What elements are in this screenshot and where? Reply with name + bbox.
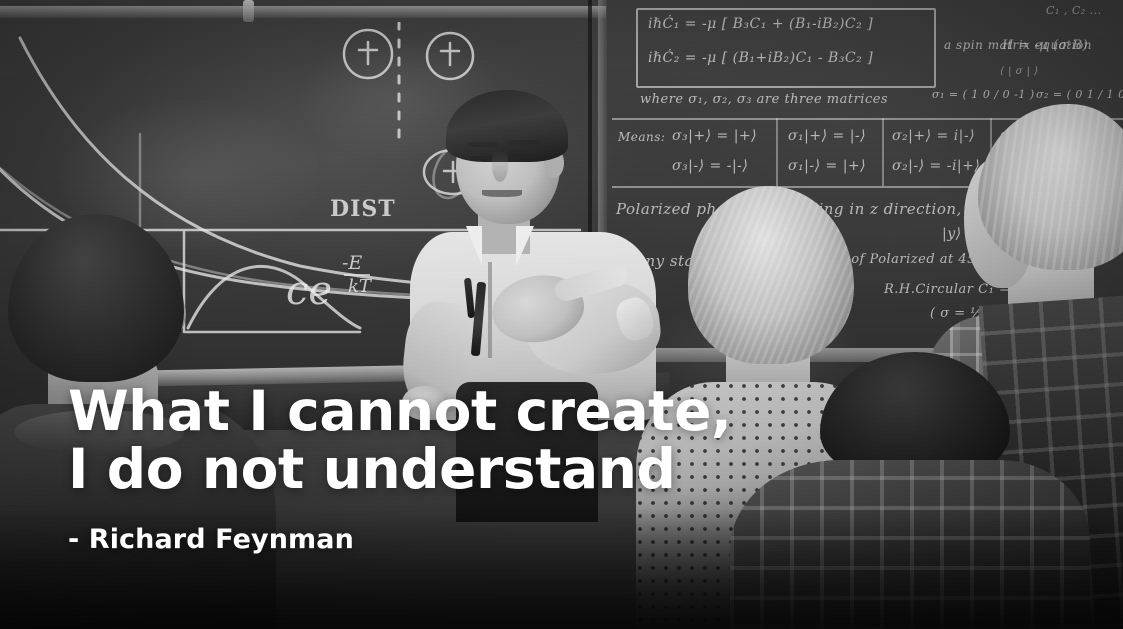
quote-attribution: - Richard Feynman xyxy=(68,524,354,555)
quote-line-2: I do not understand xyxy=(68,440,768,498)
quote-text-block: What I cannot create, I do not understan… xyxy=(68,382,768,498)
quote-line-1: What I cannot create, xyxy=(68,382,768,440)
quote-image: DIST ce -E kT iℏĊ₁ = -μ [ B₃C₁ + (B₁-iB₂… xyxy=(0,0,1123,629)
